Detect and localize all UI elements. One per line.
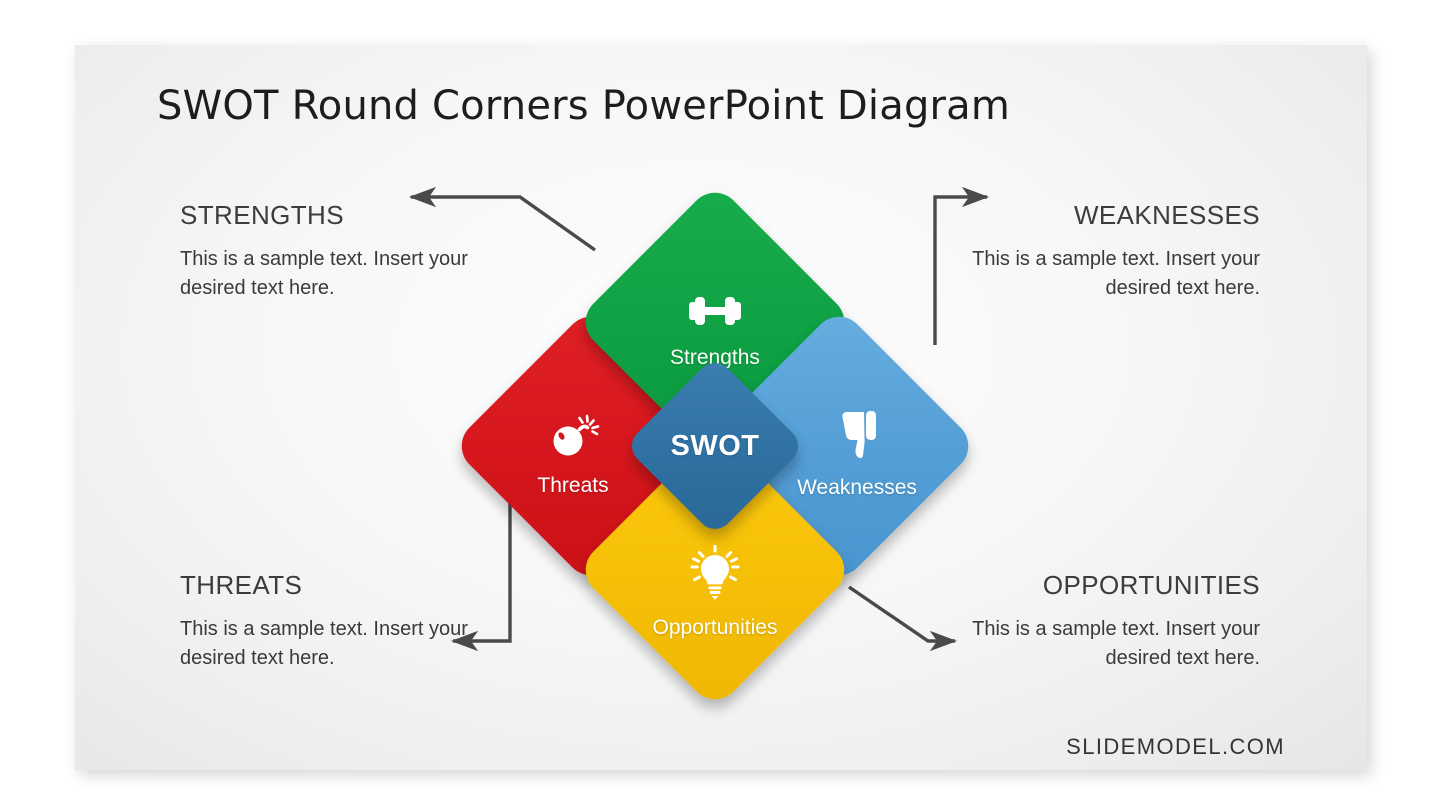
- bomb-icon: [546, 411, 600, 464]
- swot-center-label: SWOT: [671, 430, 760, 463]
- swot-node-weaknesses-label: Weaknesses: [797, 476, 917, 500]
- swot-diagram: Threats Strengths: [430, 155, 1010, 735]
- slide-canvas: SWOT Round Corners PowerPoint Diagram ST…: [75, 45, 1367, 770]
- dumbbell-icon: [686, 291, 744, 336]
- swot-node-threats-label: Threats: [537, 474, 608, 498]
- thumbs-down-icon: [834, 409, 880, 466]
- footer-brand: SLIDEMODEL.COM: [1066, 734, 1285, 760]
- page-title: SWOT Round Corners PowerPoint Diagram: [157, 83, 1010, 129]
- lightbulb-icon: [686, 545, 744, 606]
- swot-node-opportunities-label: Opportunities: [653, 616, 778, 640]
- screenshot-root: SWOT Round Corners PowerPoint Diagram ST…: [0, 0, 1440, 810]
- swot-center-node[interactable]: SWOT: [624, 355, 805, 536]
